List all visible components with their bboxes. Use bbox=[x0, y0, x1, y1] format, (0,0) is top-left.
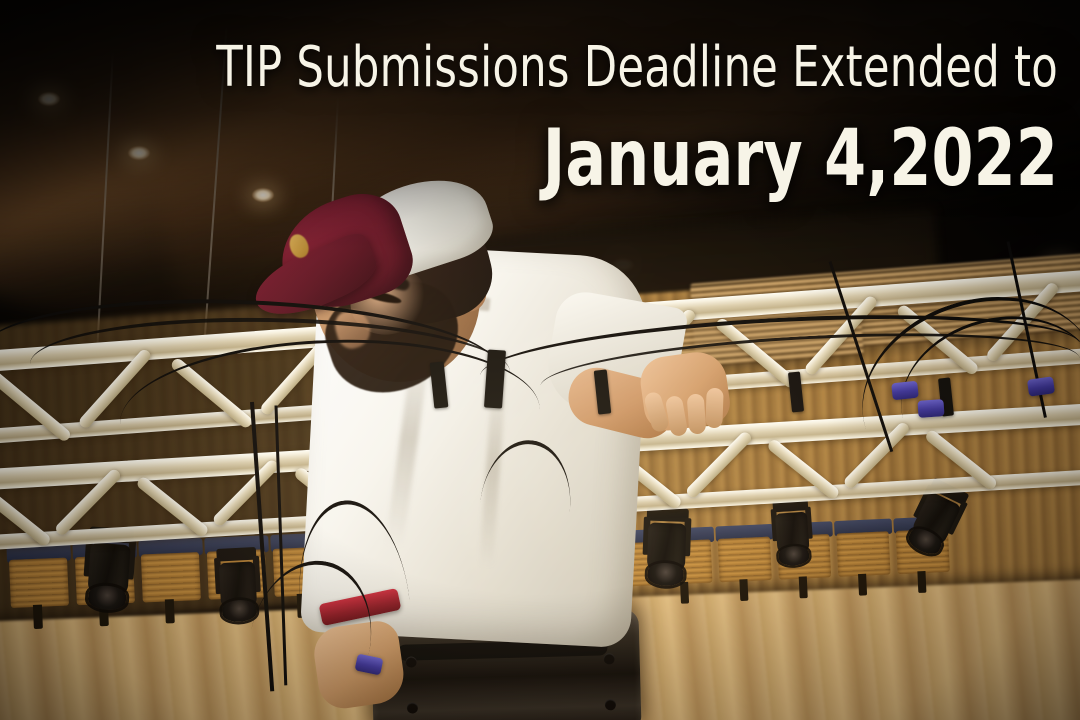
promo-banner: TIP Submissions Deadline Extended to Jan… bbox=[0, 0, 1080, 720]
cable-connector-blue bbox=[917, 399, 944, 418]
fixture-bolt bbox=[407, 702, 418, 713]
seat-leg bbox=[680, 582, 689, 604]
ceiling-downlight bbox=[38, 92, 60, 106]
auditorium-seat bbox=[836, 519, 895, 597]
cable-connector-blue bbox=[891, 381, 919, 401]
ceiling-downlight bbox=[128, 146, 150, 160]
seat-back bbox=[9, 558, 69, 608]
finger bbox=[687, 393, 707, 434]
cable-connector-blue bbox=[1027, 376, 1055, 396]
fixture-bolt bbox=[604, 653, 615, 664]
seat-leg bbox=[165, 599, 175, 623]
auditorium-seat bbox=[717, 524, 776, 602]
seat-leg bbox=[799, 576, 808, 598]
auditorium-seat bbox=[140, 538, 205, 625]
seat-leg bbox=[917, 571, 926, 593]
technician-figure bbox=[250, 178, 680, 648]
seat-back bbox=[141, 552, 201, 602]
auditorium-seat bbox=[8, 543, 73, 630]
fixture-bolt bbox=[605, 699, 616, 710]
finger bbox=[705, 388, 723, 429]
seat-back bbox=[718, 537, 772, 583]
seat-back bbox=[836, 531, 890, 577]
seat-leg bbox=[858, 574, 867, 596]
seat-leg bbox=[739, 579, 748, 601]
background-photo bbox=[0, 0, 1080, 720]
seat-leg bbox=[33, 605, 43, 629]
